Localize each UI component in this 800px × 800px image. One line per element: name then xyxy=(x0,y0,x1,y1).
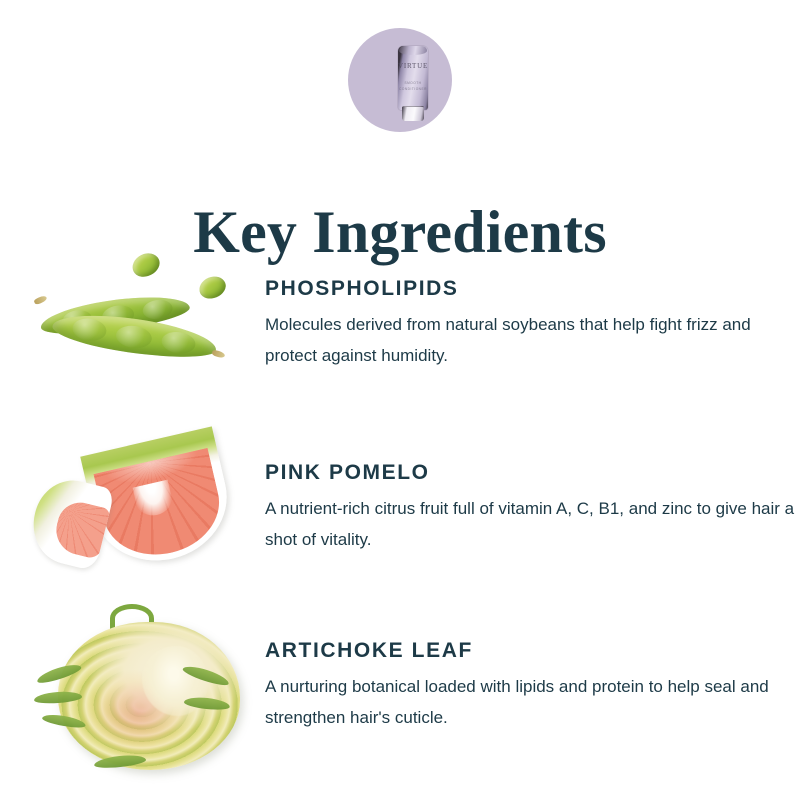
product-badge: VIRTUE SMOOTH CONDITIONER xyxy=(348,28,452,132)
key-ingredients-page: VIRTUE SMOOTH CONDITIONER Key Ingredient… xyxy=(0,0,800,800)
ingredient-name: PHOSPHOLIPIDS xyxy=(265,278,800,299)
pod-bump xyxy=(115,324,154,351)
tube-brand-label: VIRTUE xyxy=(398,63,428,70)
soybean-2 xyxy=(196,273,229,303)
ingredient-name: ARTICHOKE LEAF xyxy=(265,640,800,661)
ingredient-name: PINK POMELO xyxy=(265,462,800,483)
product-tube-image: VIRTUE SMOOTH CONDITIONER xyxy=(398,46,428,120)
ingredient-text-artichoke-leaf: ARTICHOKE LEAF A nurturing botanical loa… xyxy=(265,640,800,733)
pod-bump xyxy=(141,298,173,321)
tube-shoulder xyxy=(399,46,427,55)
ingredient-description: Molecules derived from natural soybeans … xyxy=(265,309,795,371)
artichoke-half xyxy=(58,622,240,770)
artichoke-leaf-image xyxy=(22,608,254,783)
pod-tip-1 xyxy=(33,295,47,306)
pod-bump xyxy=(160,330,197,356)
soybean-1 xyxy=(129,249,164,281)
ingredient-description: A nurturing botanical loaded with lipids… xyxy=(265,671,795,733)
tube-cap xyxy=(402,106,424,121)
ingredient-text-pink-pomelo: PINK POMELO A nutrient-rich citrus fruit… xyxy=(265,462,800,555)
tube-body: VIRTUE SMOOTH CONDITIONER xyxy=(398,46,428,110)
edamame-soybean-image xyxy=(22,245,254,405)
ingredient-row-artichoke-leaf: ARTICHOKE LEAF A nurturing botanical loa… xyxy=(0,608,800,783)
pod-bump xyxy=(71,316,108,343)
ingredient-text-phospholipids: PHOSPHOLIPIDS Molecules derived from nat… xyxy=(265,278,800,371)
pomelo-wedge xyxy=(25,473,115,572)
ingredient-row-phospholipids: PHOSPHOLIPIDS Molecules derived from nat… xyxy=(0,245,800,405)
pink-pomelo-image xyxy=(22,432,254,592)
tube-subtitle-label: SMOOTH CONDITIONER xyxy=(398,80,428,92)
pod-tip-2 xyxy=(211,349,225,358)
pomelo-wedge-flesh xyxy=(51,498,112,561)
ingredient-row-pink-pomelo: PINK POMELO A nutrient-rich citrus fruit… xyxy=(0,432,800,592)
ingredient-description: A nutrient-rich citrus fruit full of vit… xyxy=(265,493,795,555)
